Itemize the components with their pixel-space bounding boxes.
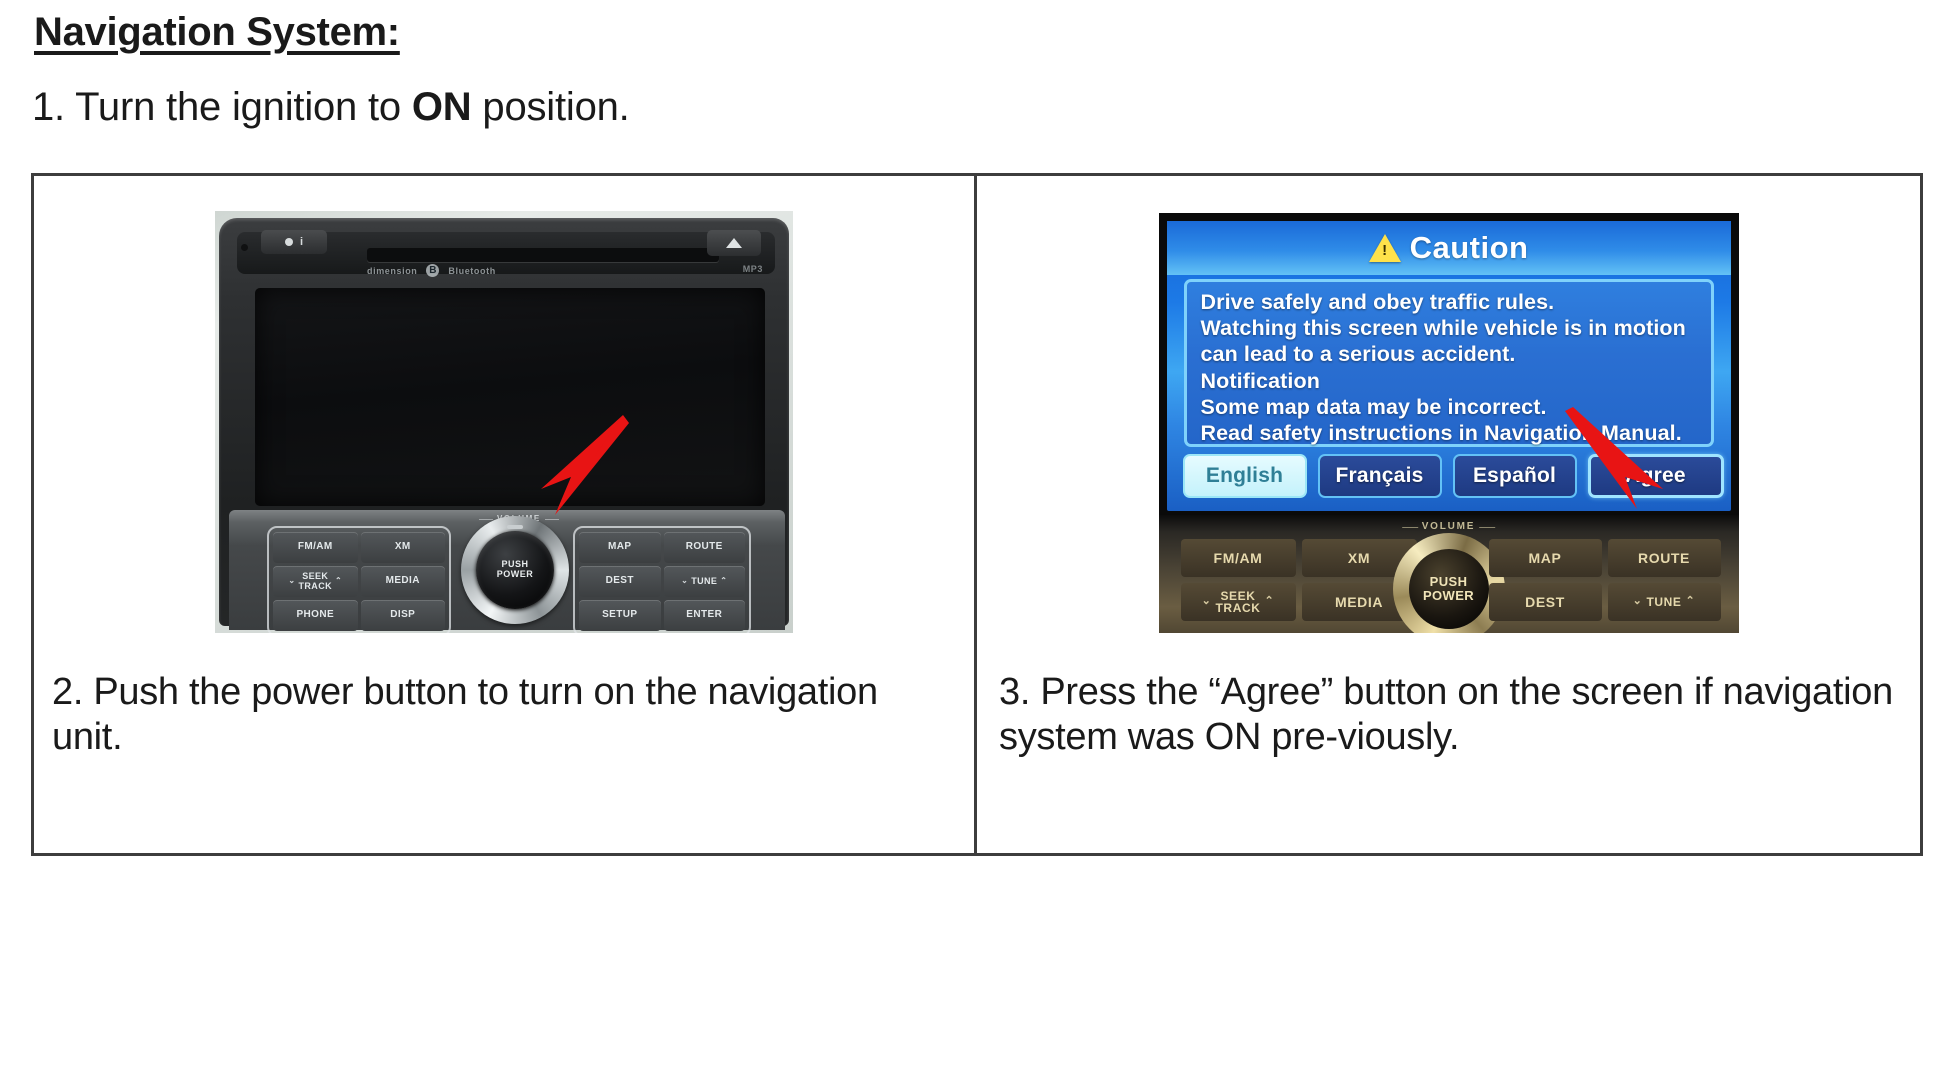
head-unit-figure: i dimension B Bluetooth MP3 VOLUME [34, 176, 974, 666]
seek-down-icon: ⌄ [285, 577, 298, 585]
left-button-group: FM/AM XM ⌄SEEKTRACK⌃ MEDIA [1181, 539, 1417, 621]
phone-button[interactable]: PHONE [273, 600, 358, 631]
xm-button[interactable]: XM [361, 532, 446, 563]
route-button[interactable]: ROUTE [664, 532, 746, 563]
page-title: Navigation System: [34, 10, 400, 55]
language-button-row: English Français Español Agree [1183, 454, 1717, 498]
tune-up-icon: ⌃ [717, 577, 730, 585]
seek-track-button[interactable]: ⌄SEEKTRACK⌃ [273, 566, 358, 597]
step-1-emphasis: ON [412, 85, 472, 129]
eject-triangle-icon [726, 238, 742, 248]
seek-track-button[interactable]: ⌄SEEKTRACK⌃ [1181, 583, 1296, 621]
brand-label: dimension [367, 266, 417, 276]
language-button-english[interactable]: English [1183, 454, 1307, 498]
power-volume-knob[interactable]: PUSHPOWER [461, 516, 569, 624]
left-button-group: FM/AM XM ⌄SEEKTRACK⌃ MEDIA PHONE DISP [267, 526, 451, 633]
map-button[interactable]: MAP [579, 532, 661, 563]
head-unit-console: VOLUME FM/AM XM ⌄SEEKTRACK⌃ MEDIA PHONE … [229, 510, 785, 630]
tune-up-icon: ⌃ [1682, 596, 1700, 607]
agree-button[interactable]: Agree [1588, 454, 1724, 498]
nav-screen-figure: Caution Drive safely and obey traffic ru… [977, 176, 1920, 666]
setup-button[interactable]: SETUP [579, 600, 661, 631]
power-button[interactable]: PUSHPOWER [1409, 549, 1489, 629]
step-1-prefix: 1. Turn the ignition to [32, 85, 412, 129]
nav-head-unit-console: VOLUME FM/AM XM ⌄SEEKTRACK⌃ MEDIA PUSHPO… [1159, 515, 1739, 633]
map-button[interactable]: MAP [1489, 539, 1602, 577]
route-button[interactable]: ROUTE [1608, 539, 1721, 577]
step-3-caption: 3. Press the “Agree” button on the scree… [977, 666, 1920, 760]
caution-message-box: Drive safely and obey traffic rules. Wat… [1184, 279, 1714, 447]
right-button-group: MAP ROUTE DEST ⌄TUNE⌃ SETUP ENTER [573, 526, 751, 633]
fm-am-button[interactable]: FM/AM [1181, 539, 1296, 577]
head-unit-display [255, 288, 765, 506]
tune-button[interactable]: ⌄TUNE⌃ [1608, 583, 1721, 621]
warning-triangle-icon [1369, 234, 1401, 262]
step-3-cell: Caution Drive safely and obey traffic ru… [977, 176, 1920, 853]
power-dot-icon [285, 238, 293, 246]
right-button-group: MAP ROUTE DEST ⌄TUNE⌃ [1489, 539, 1721, 621]
brand-row: dimension B Bluetooth [367, 264, 496, 277]
push-power-label: PUSHPOWER [497, 560, 534, 579]
dest-button[interactable]: DEST [579, 566, 661, 597]
steps-table: i dimension B Bluetooth MP3 VOLUME [31, 173, 1923, 856]
fm-am-button[interactable]: FM/AM [273, 532, 358, 563]
enter-button[interactable]: ENTER [664, 600, 746, 631]
knob-notch-icon [507, 525, 523, 529]
eject-button[interactable] [707, 230, 761, 256]
caution-title: Caution [1410, 230, 1529, 266]
tune-button[interactable]: ⌄TUNE⌃ [664, 566, 746, 597]
head-unit-bezel: i dimension B Bluetooth MP3 VOLUME [219, 218, 789, 626]
caution-message-text: Drive safely and obey traffic rules. Wat… [1201, 289, 1699, 446]
seek-up-icon: ⌃ [1261, 596, 1279, 607]
volume-label: VOLUME [1422, 521, 1476, 532]
power-button[interactable]: PUSHPOWER [476, 531, 554, 609]
language-button-francais[interactable]: Français [1318, 454, 1442, 498]
nav-caution-dialog: Caution Drive safely and obey traffic ru… [1167, 221, 1731, 511]
media-format-label: MP3 [743, 264, 763, 274]
dest-button[interactable]: DEST [1489, 583, 1602, 621]
bluetooth-label: Bluetooth [448, 266, 495, 276]
tune-down-icon: ⌄ [1629, 596, 1647, 607]
step-1-suffix: position. [472, 85, 630, 129]
step-2-cell: i dimension B Bluetooth MP3 VOLUME [34, 176, 977, 853]
push-power-label: PUSHPOWER [1423, 575, 1474, 602]
ir-sensor-icon [241, 244, 248, 251]
disc-slot [367, 248, 719, 262]
caution-title-bar: Caution [1167, 221, 1731, 275]
disp-button[interactable]: DISP [361, 600, 446, 631]
language-button-espanol[interactable]: Español [1453, 454, 1577, 498]
tune-down-icon: ⌄ [678, 577, 691, 585]
step-2-caption: 2. Push the power button to turn on the … [34, 666, 974, 760]
step-1-text: 1. Turn the ignition to ON position. [32, 85, 630, 130]
nav-caution-photo: Caution Drive safely and obey traffic ru… [1159, 213, 1739, 633]
media-button[interactable]: MEDIA [361, 566, 446, 597]
seek-down-icon: ⌄ [1198, 596, 1216, 607]
seek-up-icon: ⌃ [332, 577, 345, 585]
head-unit-photo: i dimension B Bluetooth MP3 VOLUME [215, 211, 793, 633]
info-icon: i [300, 237, 303, 248]
power-info-button[interactable]: i [261, 230, 327, 254]
bluetooth-icon: B [426, 264, 439, 277]
